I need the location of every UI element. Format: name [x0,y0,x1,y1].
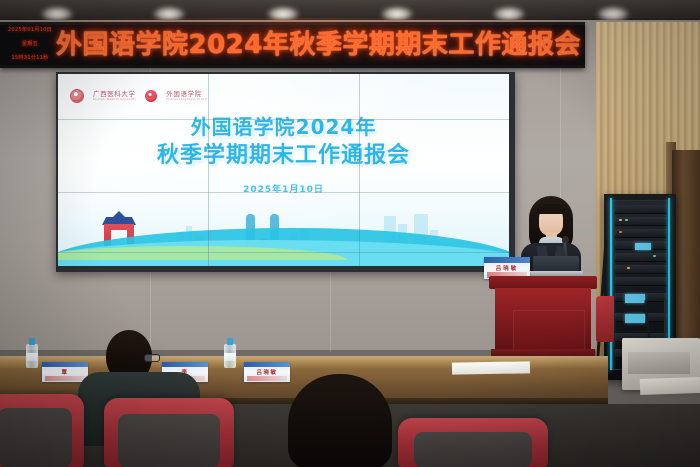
auditorium-seat [398,418,548,467]
placard-header-bar [484,257,530,263]
podium-front-panel [513,310,585,350]
water-bottle [224,338,236,368]
rack-unit [615,205,667,214]
rack-unit [615,265,667,274]
conference-room-photo: 2025年01月10日 星期五 15时31分11秒 外国语学院2024年秋季学期… [0,0,700,467]
slide-cityscape-graphic [58,192,509,266]
led-datetime-block: 2025年01月10日 星期五 15时31分11秒 [6,27,54,61]
slide-title: 外国语学院2024年 秋季学期期末工作通报会 [58,114,509,171]
panel-seam [58,192,509,193]
video-wall-screen: 广西医科大学 Guangxi Medical University 外国语学院 … [58,74,509,266]
university-seal-icon [70,89,84,103]
rack-status-led [627,267,630,269]
paper-stack [640,377,700,395]
rack-device-display [625,314,645,323]
panel-seam [208,74,209,266]
laptop-screen [533,256,579,272]
university-name-cn: 广西医科大学 [93,91,136,98]
long-hair [288,374,392,467]
rack-accent-light [610,198,612,370]
rack-status-led [625,219,628,221]
bottle-cap [29,338,35,345]
presenter-laptop [529,256,583,278]
university-logo-text: 广西医科大学 Guangxi Medical University [93,91,136,102]
rack-unit [615,253,667,262]
rack-device-display [635,243,651,250]
hair-fringe [537,204,565,214]
water-bottle [26,338,38,368]
led-date: 2025年01月10日 [8,27,52,33]
desk-papers [452,361,530,374]
bottle-label [224,353,236,361]
led-headline: 外国语学院2024年秋季学期期末工作通报会 [56,23,581,67]
printer-paper-tray [628,352,690,374]
rack-unit [615,229,667,238]
seat-cushion [118,414,220,467]
led-time: 15时31分11秒 [11,55,48,61]
slide-logo-row: 广西医科大学 Guangxi Medical University 外国语学院 … [70,89,207,103]
auditorium-seat [104,398,234,467]
school-logo-text: 外国语学院 Foreign Languages School [166,91,207,102]
video-wall: 广西医科大学 Guangxi Medical University 外国语学院 … [56,72,515,272]
panel-seam [58,252,509,253]
slide-title-line2: 秋季学期期末工作通报会 [58,141,509,171]
side-chair [596,296,614,342]
placard-name: 吕晓敏 [484,264,530,272]
seat-cushion [0,408,72,467]
led-weekday: 星期五 [22,41,38,47]
led-headline-area: 外国语学院2024年秋季学期期末工作通报会 [56,23,581,67]
led-banner: 2025年01月10日 星期五 15时31分11秒 外国语学院2024年秋季学期… [0,22,585,68]
school-name-en: Foreign Languages School [166,99,207,102]
bottle-cap [227,338,233,345]
panel-seam [359,74,360,266]
auditorium-seat [0,394,84,467]
bottle-label [26,353,38,361]
rack-unit [615,217,667,226]
podium-body [495,288,591,350]
placard-header-bar [244,362,290,367]
school-seal-icon [145,90,157,102]
seat-cushion [414,432,532,467]
rack-status-led [619,231,622,233]
university-name-en: Guangxi Medical University [93,99,136,102]
eyeglasses [144,354,160,362]
rack-device-display [625,294,645,303]
panel-seam [58,119,509,120]
rack-unit [615,277,667,286]
audience-person-woman [282,374,402,467]
placard-ribbon [247,376,287,381]
school-name-cn: 外国语学院 [166,91,207,98]
rack-status-led [653,255,656,257]
rack-status-led [619,219,622,221]
placard-ribbon [45,376,85,381]
landmark-spire [112,211,126,218]
